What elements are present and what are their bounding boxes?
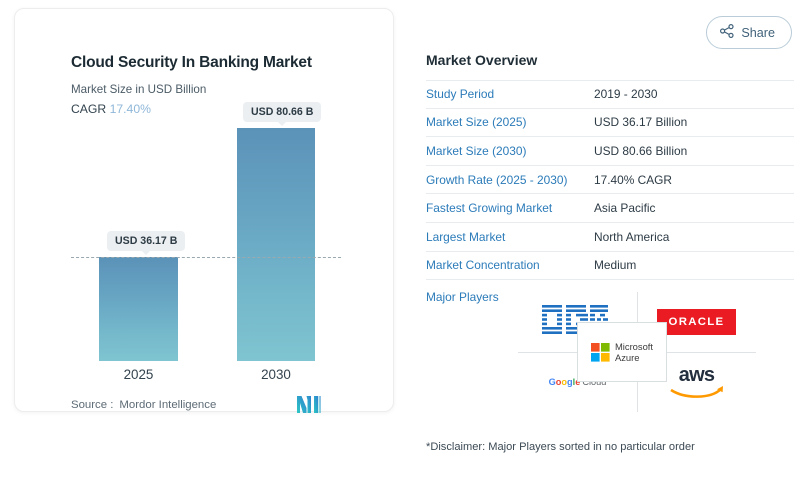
data-label-2025: USD 36.17 B: [107, 231, 185, 251]
bar-2030[interactable]: [237, 128, 315, 361]
table-row: Market Size (2025) USD 36.17 Billion: [426, 109, 794, 138]
share-button-label: Share: [741, 26, 775, 40]
reference-dashed-line: [71, 257, 341, 258]
table-row: Largest Market North America: [426, 223, 794, 252]
source-name: Mordor Intelligence: [119, 399, 216, 411]
player-cell-microsoft-azure[interactable]: Microsoft Azure: [577, 322, 667, 382]
bar-chart-plot: USD 36.17 B USD 80.66 B 2025 2030: [15, 9, 395, 413]
table-row: Study Period 2019 - 2030: [426, 80, 794, 109]
aws-logo-icon: aws: [669, 365, 725, 399]
row-value: Medium: [594, 258, 636, 272]
row-label: Market Size (2025): [426, 115, 594, 129]
microsoft-azure-logo-icon: Microsoft Azure: [591, 341, 653, 364]
share-button[interactable]: Share: [706, 16, 792, 49]
market-snapshot-page: Cloud Security In Banking Market Market …: [0, 0, 800, 482]
share-nodes-icon: [720, 24, 734, 41]
row-value: North America: [594, 230, 669, 244]
bars-container: [15, 9, 395, 361]
azure-text-block: Microsoft Azure: [615, 341, 653, 364]
row-value: Asia Pacific: [594, 201, 655, 215]
overview-table: Study Period 2019 - 2030 Market Size (20…: [426, 80, 794, 310]
mordor-intelligence-logo-icon: [297, 396, 321, 418]
row-value: 17.40% CAGR: [594, 173, 672, 187]
azure-line-1: Microsoft: [615, 341, 653, 352]
disclaimer-text: *Disclaimer: Major Players sorted in no …: [426, 441, 695, 453]
row-value: USD 36.17 Billion: [594, 115, 687, 129]
source-row: Source : Mordor Intelligence: [71, 399, 371, 411]
azure-line-2: Azure: [615, 352, 640, 363]
row-label: Market Concentration: [426, 258, 594, 272]
source-label: Source :: [71, 399, 113, 411]
table-row: Market Concentration Medium: [426, 252, 794, 281]
bar-2025[interactable]: [99, 257, 178, 361]
x-axis-label-2030: 2030: [237, 367, 315, 382]
market-overview-panel: Share Market Overview Study Period 2019 …: [420, 0, 800, 482]
row-label: Largest Market: [426, 230, 594, 244]
chart-card: Cloud Security In Banking Market Market …: [14, 8, 394, 412]
row-value: USD 80.66 Billion: [594, 144, 687, 158]
row-label: Market Size (2030): [426, 144, 594, 158]
overview-title: Market Overview: [426, 52, 537, 68]
x-axis-label-2025: 2025: [99, 367, 178, 382]
table-row: Growth Rate (2025 - 2030) 17.40% CAGR: [426, 166, 794, 195]
table-row: Market Size (2030) USD 80.66 Billion: [426, 137, 794, 166]
major-players-logo-grid: ORACLE GoogleCloud aws: [518, 292, 756, 412]
row-label: Fastest Growing Market: [426, 201, 594, 215]
data-label-2030: USD 80.66 B: [243, 102, 321, 122]
row-value: 2019 - 2030: [594, 87, 657, 101]
row-label: Study Period: [426, 87, 594, 101]
row-label: Growth Rate (2025 - 2030): [426, 173, 594, 187]
aws-word: aws: [679, 365, 714, 385]
oracle-logo-icon: ORACLE: [657, 309, 737, 335]
table-row: Fastest Growing Market Asia Pacific: [426, 194, 794, 223]
